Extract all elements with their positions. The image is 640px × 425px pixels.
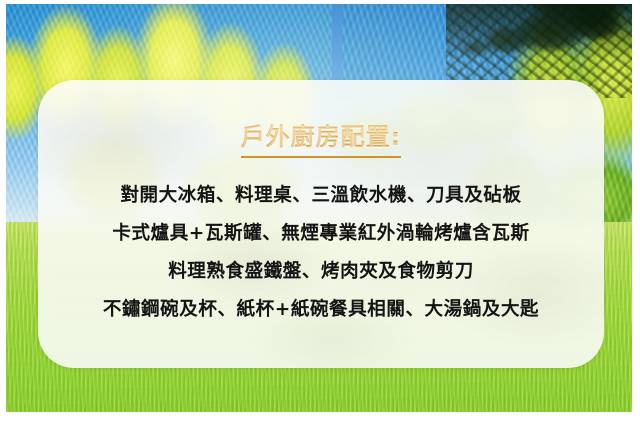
- list-item: 卡式爐具+瓦斯罐、無煙專業紅外渦輪烤爐含瓦斯: [56, 215, 586, 253]
- page-title: 戶外廚房配置:: [241, 124, 402, 158]
- list-item: 不鏽鋼碗及杯、紙杯+紙碗餐具相關、大湯鍋及大匙: [56, 291, 586, 329]
- frame-bottom-margin: [0, 412, 640, 425]
- poster-card: 戶外廚房配置: 對開大冰箱、料理桌、三溫飲水機、刀具及砧板 卡式爐具+瓦斯罐、無…: [0, 0, 640, 425]
- list-item: 對開大冰箱、料理桌、三溫飲水機、刀具及砧板: [56, 177, 586, 215]
- frosted-content-panel: 戶外廚房配置: 對開大冰箱、料理桌、三溫飲水機、刀具及砧板 卡式爐具+瓦斯罐、無…: [38, 80, 604, 368]
- panel-content: 戶外廚房配置: 對開大冰箱、料理桌、三溫飲水機、刀具及砧板 卡式爐具+瓦斯罐、無…: [38, 80, 604, 368]
- list-item: 料理熟食盛鐵盤、烤肉夾及食物剪刀: [56, 253, 586, 291]
- equipment-list: 對開大冰箱、料理桌、三溫飲水機、刀具及砧板 卡式爐具+瓦斯罐、無煙專業紅外渦輪烤…: [56, 177, 586, 329]
- frame-right-margin: [632, 0, 640, 425]
